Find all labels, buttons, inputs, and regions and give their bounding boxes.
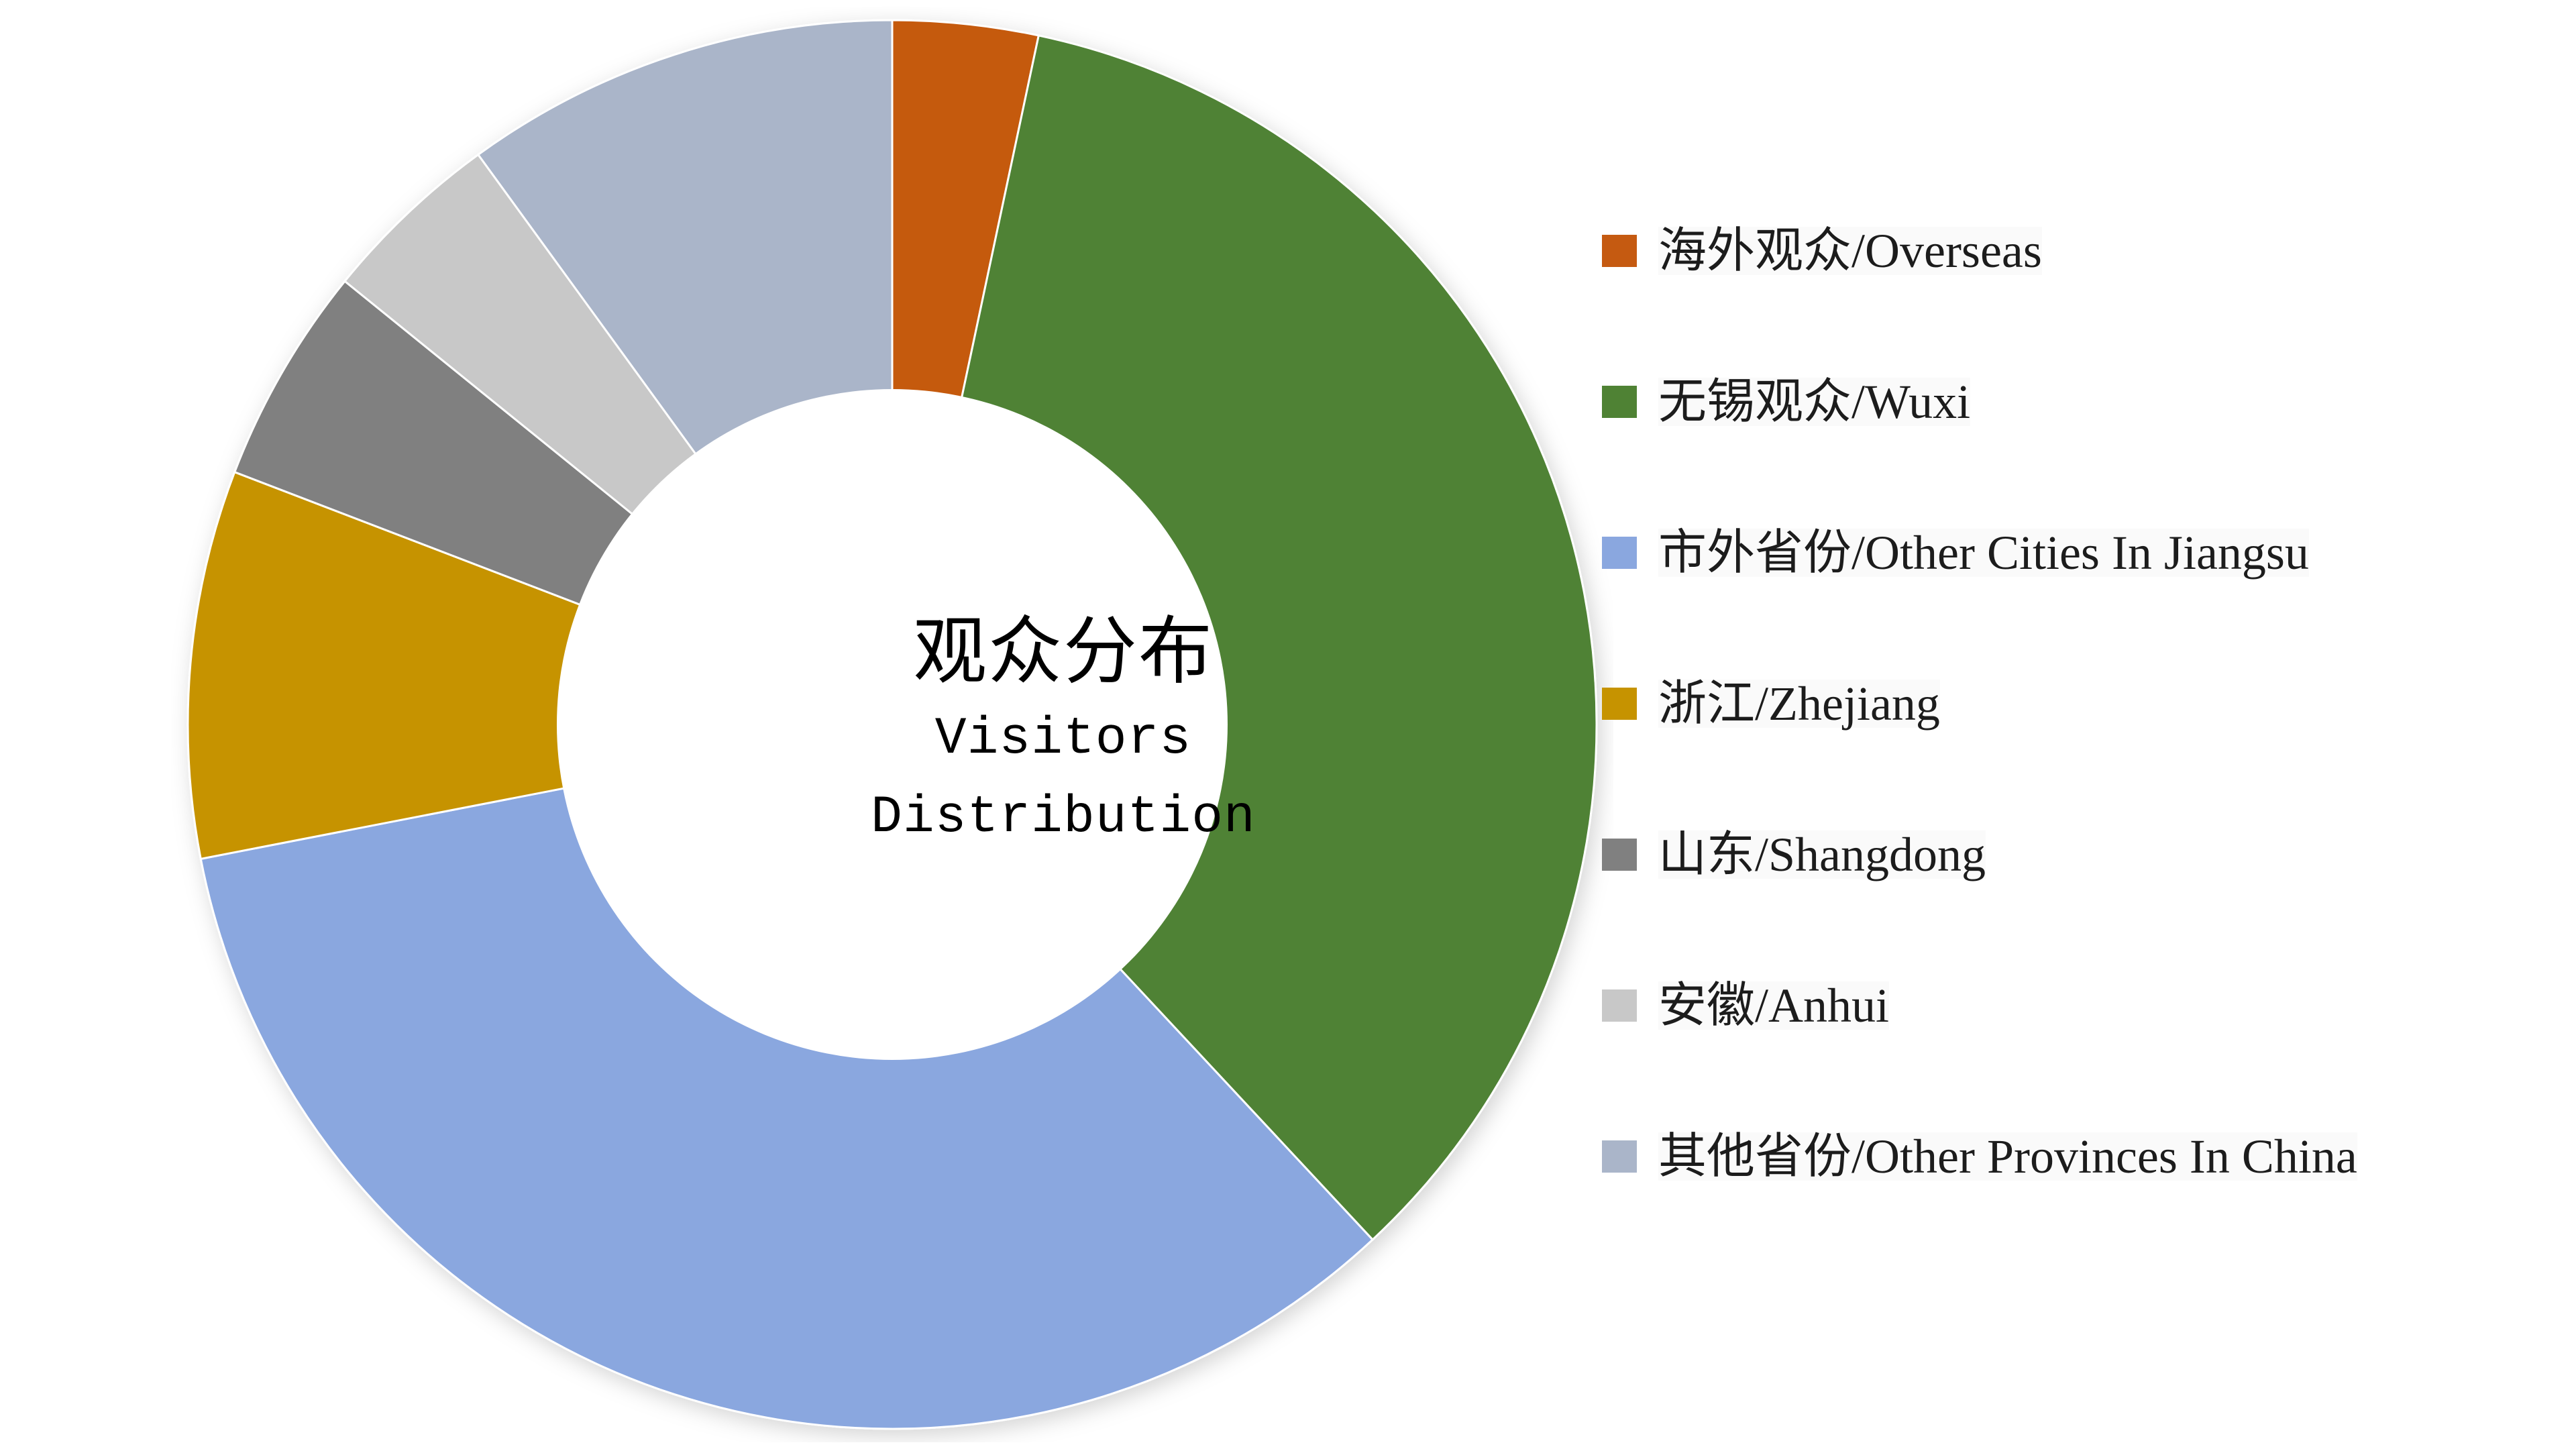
- legend-item[interactable]: 市外省份/Other Cities In Jiangsu: [1602, 523, 2568, 582]
- legend-item[interactable]: 浙江/Zhejiang: [1602, 674, 2568, 733]
- legend-item-label: 其他省份/Other Provinces In China: [1658, 1132, 2357, 1181]
- legend-color-swatch: [1602, 386, 1637, 418]
- donut-chart: 观众分布 Visitors Distribution: [171, 7, 1613, 1442]
- legend-color-swatch: [1602, 235, 1637, 267]
- legend-item[interactable]: 安徽/Anhui: [1602, 976, 2568, 1035]
- chart-canvas: 观众分布 Visitors Distribution 海外观众/Overseas…: [0, 0, 2576, 1449]
- legend-item[interactable]: 无锡观众/Wuxi: [1602, 372, 2568, 431]
- legend-color-swatch: [1602, 1140, 1637, 1173]
- donut-hole: [557, 389, 1228, 1060]
- legend-color-swatch: [1602, 839, 1637, 871]
- legend-item[interactable]: 海外观众/Overseas: [1602, 221, 2568, 280]
- legend-item-label: 浙江/Zhejiang: [1658, 680, 1940, 728]
- legend-item-label: 海外观众/Overseas: [1658, 227, 2042, 275]
- legend-item-label: 安徽/Anhui: [1658, 981, 1889, 1030]
- legend-item[interactable]: 其他省份/Other Provinces In China: [1602, 1127, 2568, 1186]
- donut-svg: [171, 7, 1613, 1442]
- legend-item-label: 无锡观众/Wuxi: [1658, 378, 1970, 426]
- legend-item-label: 市外省份/Other Cities In Jiangsu: [1658, 529, 2309, 577]
- legend-color-swatch: [1602, 688, 1637, 720]
- legend-color-swatch: [1602, 989, 1637, 1022]
- legend-item-label: 山东/Shangdong: [1658, 830, 1986, 879]
- chart-legend: 海外观众/Overseas无锡观众/Wuxi市外省份/Other Cities …: [1602, 221, 2568, 1186]
- legend-color-swatch: [1602, 537, 1637, 569]
- legend-item[interactable]: 山东/Shangdong: [1602, 825, 2568, 884]
